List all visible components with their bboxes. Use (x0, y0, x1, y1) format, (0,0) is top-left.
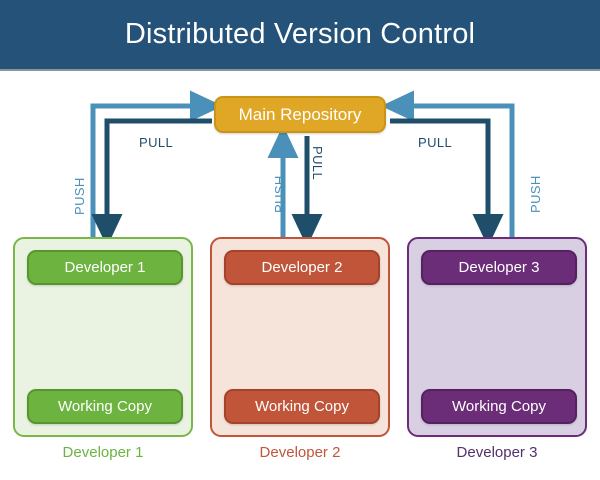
arrow-push-developer-3 (398, 106, 512, 238)
developer-2-node[interactable]: Developer 2 (224, 250, 380, 285)
label-pull-developer-2: PULL (310, 146, 325, 180)
header-bar: Distributed Version Control (0, 0, 600, 71)
label-pull-developer-3: PULL (418, 135, 452, 150)
caption-developer-2: Developer 2 (210, 444, 390, 461)
caption-developer-1: Developer 1 (13, 444, 193, 461)
developer-3-node[interactable]: Developer 3 (421, 250, 577, 285)
label-push-developer-1: PUSH (72, 177, 87, 215)
label-push-developer-2: PUSH (272, 175, 287, 213)
main-repository-node[interactable]: Main Repository (214, 96, 386, 133)
label-pull-developer-1: PULL (139, 135, 173, 150)
working-copy-1-node[interactable]: Working Copy (27, 389, 183, 424)
working-copy-2-node[interactable]: Working Copy (224, 389, 380, 424)
page-title: Distributed Version Control (0, 0, 600, 69)
arrow-push-developer-1 (93, 106, 206, 238)
working-copy-3-node[interactable]: Working Copy (421, 389, 577, 424)
label-push-developer-3: PUSH (528, 175, 543, 213)
diagram-canvas: Distributed Version Control (0, 0, 600, 480)
developer-panel-1: Developer 1 Working Copy (13, 237, 193, 437)
developer-1-node[interactable]: Developer 1 (27, 250, 183, 285)
developer-panel-2: Developer 2 Working Copy (210, 237, 390, 437)
developer-panel-3: Developer 3 Working Copy (407, 237, 587, 437)
caption-developer-3: Developer 3 (407, 444, 587, 461)
